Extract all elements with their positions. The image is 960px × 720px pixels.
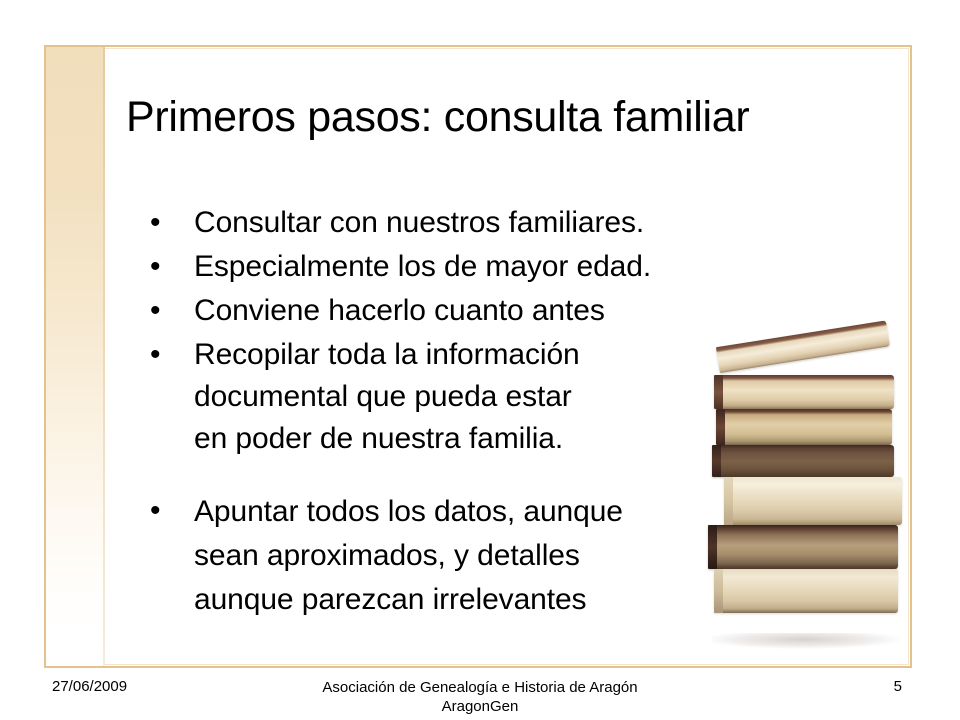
left-gradient-band xyxy=(46,47,104,666)
stack-of-books-photo xyxy=(706,347,906,642)
slide-title: Primeros pasos: consulta familiar xyxy=(126,95,886,140)
presentation-slide: Primeros pasos: consulta familiar • Cons… xyxy=(0,0,960,720)
book-2 xyxy=(714,375,894,409)
slide-content-area: Primeros pasos: consulta familiar • Cons… xyxy=(106,47,909,666)
list-item-line: Consultar con nuestros familiares. xyxy=(194,202,842,244)
list-item-text: Conviene hacerlo cuanto antes xyxy=(194,290,842,332)
books-drop-shadow xyxy=(712,633,902,649)
list-item-text: Consultar con nuestros familiares. xyxy=(194,202,842,244)
bullet-point-icon: • xyxy=(142,290,194,332)
list-item-line: Conviene hacerlo cuanto antes xyxy=(194,290,842,332)
footer-organization-line1: Asociación de Genealogía e Historia de A… xyxy=(230,678,730,697)
footer-page-number: 5 xyxy=(894,678,902,695)
footer-organization-line2: AragonGen xyxy=(230,697,730,716)
bullet-point-icon: • xyxy=(142,246,194,288)
list-item-text: Especialmente los de mayor edad. xyxy=(194,246,842,288)
list-item: • Consultar con nuestros familiares. xyxy=(142,202,842,244)
book-5 xyxy=(724,477,902,525)
book-3 xyxy=(716,409,892,445)
book-7 xyxy=(714,569,898,613)
list-item-line: Especialmente los de mayor edad. xyxy=(194,246,842,288)
bullet-point-icon: • xyxy=(142,334,194,376)
bullet-point-icon: • xyxy=(142,202,194,244)
list-item: • Conviene hacerlo cuanto antes xyxy=(142,290,842,332)
footer-organization: Asociación de Genealogía e Historia de A… xyxy=(230,678,730,716)
band-divider-rule xyxy=(103,47,105,666)
list-item: • Especialmente los de mayor edad. xyxy=(142,246,842,288)
footer-date: 27/06/2009 xyxy=(52,678,127,695)
book-6 xyxy=(708,525,898,569)
slide-footer: 27/06/2009 Asociación de Genealogía e Hi… xyxy=(0,676,960,720)
bullet-point-icon: • xyxy=(142,490,194,532)
book-4 xyxy=(712,445,894,477)
